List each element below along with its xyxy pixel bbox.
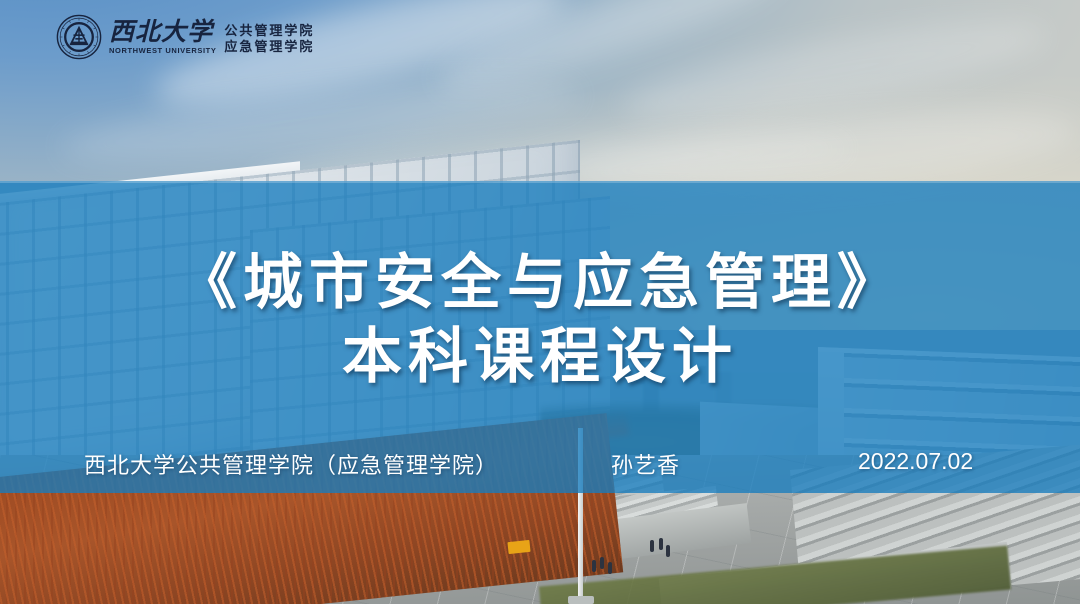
- university-logo: 西北大学 NORTHWEST UNIVERSITY 公共管理学院 应急管理学院: [56, 14, 314, 60]
- footer-author: 孙艺香: [611, 448, 680, 480]
- yellow-barrier: [507, 540, 530, 554]
- title-block: 《城市安全与应急管理》 本科课程设计: [0, 246, 1080, 394]
- course-title-line-1: 《城市安全与应急管理》: [0, 246, 1080, 320]
- logo-wordmark: 西北大学 NORTHWEST UNIVERSITY 公共管理学院 应急管理学院: [109, 20, 314, 55]
- footer-organization: 西北大学公共管理学院（应急管理学院）: [84, 448, 498, 480]
- person-figure: [600, 557, 604, 569]
- school-name-line-1: 公共管理学院: [224, 24, 314, 37]
- person-figure: [659, 538, 663, 550]
- person-figure: [592, 560, 596, 572]
- person-figure: [608, 562, 612, 574]
- school-name-line-2: 应急管理学院: [224, 40, 314, 53]
- course-title-line-2: 本科课程设计: [0, 320, 1080, 394]
- title-slide: 西北大学 NORTHWEST UNIVERSITY 公共管理学院 应急管理学院 …: [0, 0, 1080, 604]
- flagpole-base: [568, 596, 594, 604]
- person-figure: [666, 545, 670, 557]
- footer-date: 2022.07.02: [858, 448, 973, 475]
- university-name-cn: 西北大学: [109, 20, 216, 45]
- band-top-divider: [0, 181, 1080, 183]
- person-figure: [650, 540, 654, 552]
- university-name: 西北大学 NORTHWEST UNIVERSITY: [109, 20, 216, 55]
- footer-row: 西北大学公共管理学院（应急管理学院） 孙艺香 2022.07.02: [0, 448, 1080, 482]
- school-name: 公共管理学院 应急管理学院: [224, 24, 314, 53]
- university-seal-icon: [56, 14, 102, 60]
- university-name-en: NORTHWEST UNIVERSITY: [109, 47, 216, 55]
